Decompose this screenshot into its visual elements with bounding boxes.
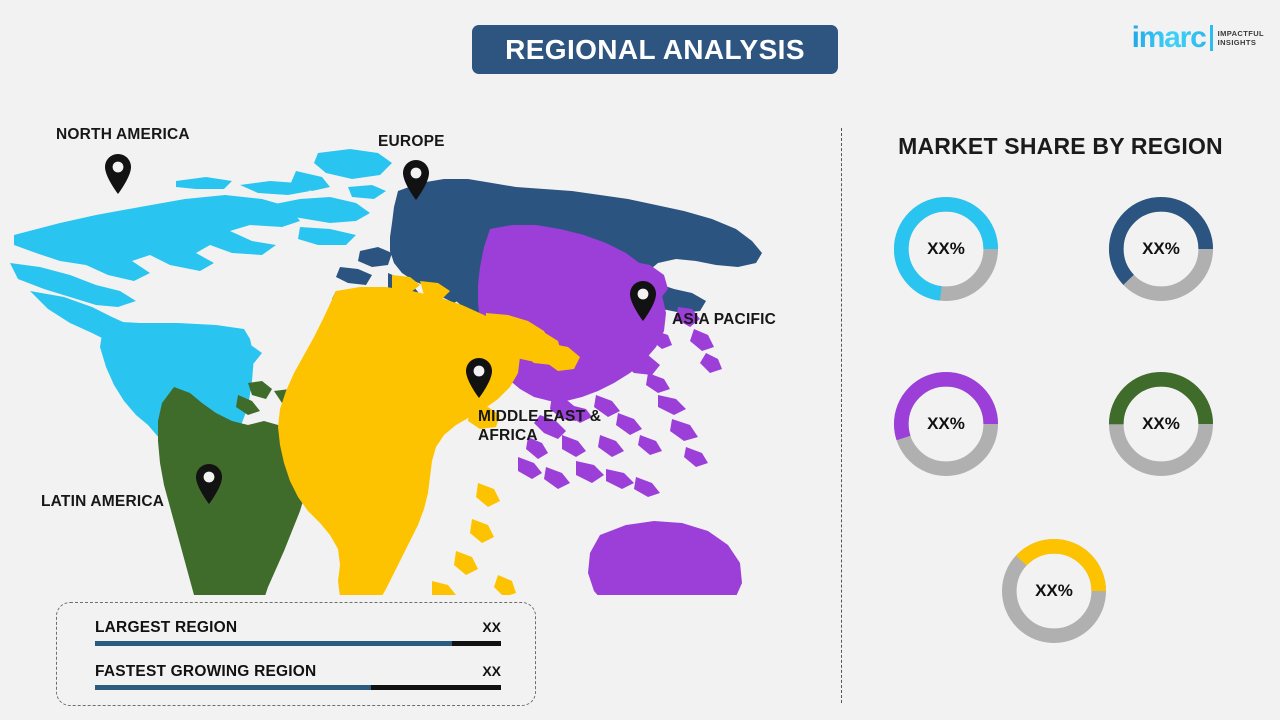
legend-row-fastest-growing-region: FASTEST GROWING REGION XX xyxy=(95,663,501,690)
imarc-logo: imarc IMPACTFUL INSIGHTS xyxy=(1132,18,1264,58)
donut-chart-latin-america[interactable]: XX% xyxy=(1102,365,1220,483)
map-pin-latin-america[interactable] xyxy=(194,463,224,505)
legend-progress-fill xyxy=(95,641,452,646)
legend-value: XX xyxy=(482,619,501,635)
map-label-europe: EUROPE xyxy=(378,132,445,151)
legend-row-header: LARGEST REGION XX xyxy=(95,619,501,637)
infographic-page: REGIONAL ANALYSIS imarc IMPACTFUL INSIGH… xyxy=(0,0,1280,720)
map-label-middle-east-africa: MIDDLE EAST & AFRICA xyxy=(478,407,601,446)
legend-label: LARGEST REGION xyxy=(95,619,237,637)
map-label-asia-pacific: ASIA PACIFIC xyxy=(672,310,776,329)
donut-value-label: XX% xyxy=(1102,365,1220,483)
page-title-banner: REGIONAL ANALYSIS xyxy=(472,25,838,74)
logo-tagline-line1: IMPACTFUL xyxy=(1218,29,1264,38)
donut-chart-asia-pacific[interactable]: XX% xyxy=(887,365,1005,483)
logo-tagline: IMPACTFUL INSIGHTS xyxy=(1218,29,1264,48)
legend-row-header: FASTEST GROWING REGION XX xyxy=(95,663,501,681)
legend-progress-bar xyxy=(95,641,501,646)
legend-value: XX xyxy=(482,663,501,679)
donut-chart-middle-east-africa[interactable]: XX% xyxy=(995,532,1113,650)
section-divider xyxy=(841,128,842,703)
map-pin-europe[interactable] xyxy=(401,159,431,201)
region-summary-box: LARGEST REGION XX FASTEST GROWING REGION… xyxy=(56,602,536,706)
legend-row-largest-region: LARGEST REGION XX xyxy=(95,619,501,646)
donut-chart-europe[interactable]: XX% xyxy=(1102,190,1220,308)
logo-divider-icon xyxy=(1210,25,1213,51)
donut-value-label: XX% xyxy=(887,365,1005,483)
map-label-latin-america: LATIN AMERICA xyxy=(41,492,164,511)
map-pin-north-america[interactable] xyxy=(103,153,133,195)
legend-progress-fill xyxy=(95,685,371,690)
donut-value-label: XX% xyxy=(995,532,1113,650)
world-map: NORTH AMERICA EUROPE ASIA PACIFIC MIDDLE… xyxy=(0,95,830,595)
market-share-title: MARKET SHARE BY REGION xyxy=(841,133,1280,160)
donut-value-label: XX% xyxy=(887,190,1005,308)
logo-tagline-line2: INSIGHTS xyxy=(1218,38,1264,47)
donut-chart-north-america[interactable]: XX% xyxy=(887,190,1005,308)
map-pin-asia-pacific[interactable] xyxy=(628,280,658,322)
map-pin-middle-east-africa[interactable] xyxy=(464,357,494,399)
page-title: REGIONAL ANALYSIS xyxy=(505,34,805,66)
map-label-north-america: NORTH AMERICA xyxy=(56,125,190,144)
donut-value-label: XX% xyxy=(1102,190,1220,308)
legend-label: FASTEST GROWING REGION xyxy=(95,663,316,681)
legend-progress-bar xyxy=(95,685,501,690)
logo-wordmark: imarc xyxy=(1132,23,1206,53)
